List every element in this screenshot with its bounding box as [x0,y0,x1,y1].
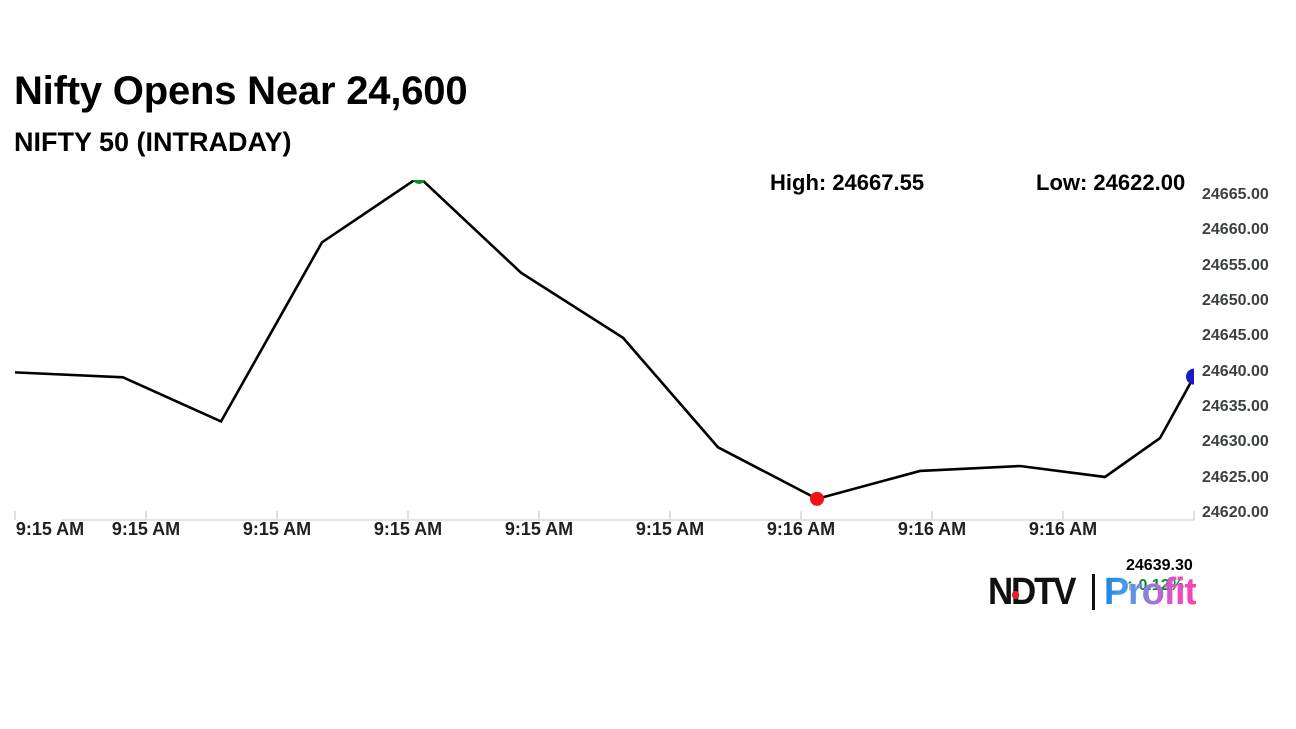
x-axis-tick-label: 9:15 AM [374,520,442,538]
logo-divider [1092,574,1095,610]
x-axis-tick-label: 9:15 AM [505,520,573,538]
y-axis-tick-label: 24640.00 [1202,364,1269,380]
price-line-chart [0,180,1296,530]
y-axis-tick-label: 24645.00 [1202,328,1269,344]
y-axis-tick-label: 24635.00 [1202,399,1269,415]
marker-last-price [1186,369,1202,385]
x-axis-tick-labels: 9:15 AM9:15 AM9:15 AM9:15 AM9:15 AM9:15 … [0,520,1296,550]
x-axis-tick-label: 9:16 AM [898,520,966,538]
y-axis-tick-label: 24625.00 [1202,470,1269,486]
y-axis-tick-label: 24665.00 [1202,187,1269,203]
marker-day-low [810,492,824,506]
ndtv-red-dot-icon [1012,591,1019,599]
page-title: Nifty Opens Near 24,600 [14,70,467,112]
x-axis-tick-label: 9:15 AM [112,520,180,538]
ndtv-profit-logo: NDTV Profit [988,570,1196,614]
x-axis-tick-label: 9:15 AM [16,520,84,538]
price-line [15,180,1194,499]
profit-wordmark: Profit [1104,573,1196,611]
price-markers [412,180,1202,506]
x-axis-tick-label: 9:16 AM [767,520,835,538]
axis-lines [15,511,1194,520]
chart-subtitle: NIFTY 50 (INTRADAY) [14,128,292,156]
x-axis-tick-label: 9:15 AM [636,520,704,538]
chart-plot-area: 24665.0024660.0024655.0024650.0024645.00… [0,180,1296,530]
x-axis-tick-label: 9:16 AM [1029,520,1097,538]
ndtv-wordmark: NDTV [988,573,1074,611]
y-axis-tick-label: 24650.00 [1202,293,1269,309]
y-axis-tick-label: 24620.00 [1202,505,1269,521]
y-axis-tick-label: 24660.00 [1202,222,1269,238]
y-axis-tick-label: 24655.00 [1202,258,1269,274]
chart-card: Nifty Opens Near 24,600 NIFTY 50 (INTRAD… [0,0,1296,729]
y-axis-tick-label: 24630.00 [1202,434,1269,450]
x-axis-tick-label: 9:15 AM [243,520,311,538]
